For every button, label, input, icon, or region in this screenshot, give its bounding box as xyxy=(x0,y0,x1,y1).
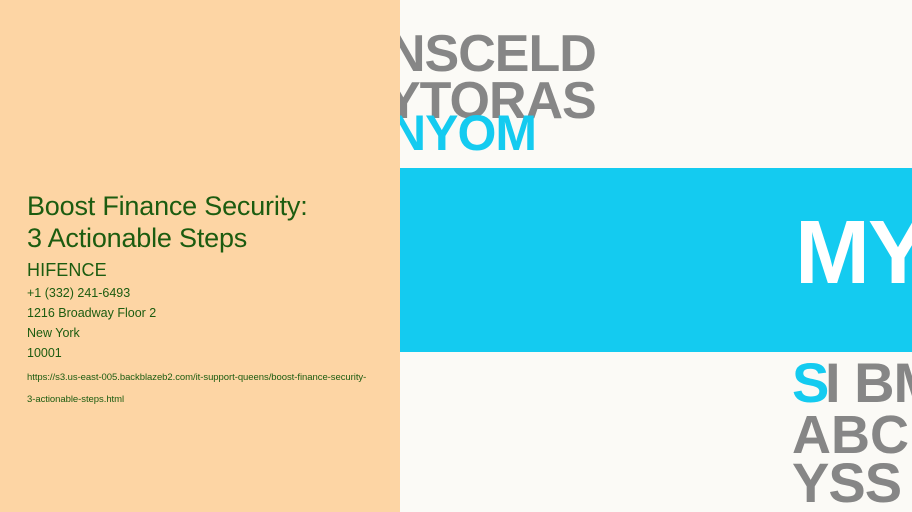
cloud-word-yss: YSS xyxy=(792,455,901,511)
info-panel-content: Boost Finance Security: 3 Actionable Ste… xyxy=(27,190,379,411)
article-url[interactable]: https://s3.us-east-005.backblazeb2.com/i… xyxy=(27,367,367,411)
phone-number[interactable]: +1 (332) 241-6493 xyxy=(27,283,379,303)
address-street: 1216 Broadway Floor 2 xyxy=(27,303,379,323)
cloud-word-mys-ntceit: MY'S NTCEIT xyxy=(795,208,912,298)
address-zip: 10001 xyxy=(27,343,379,363)
word-cloud-image: NSCELD YTORAS NYOM OFORD COTENTCA AS MY'… xyxy=(400,0,912,512)
cloud-word-ibmi: I BMI xyxy=(825,355,912,411)
page-root: Boost Finance Security: 3 Actionable Ste… xyxy=(0,0,912,512)
address-city: New York xyxy=(27,323,379,343)
brand-name: HIFENCE xyxy=(27,259,379,282)
cloud-word-s: S xyxy=(792,355,828,411)
cloud-word-nyom: NYOM xyxy=(400,108,536,158)
info-panel: Boost Finance Security: 3 Actionable Ste… xyxy=(0,0,400,512)
page-title: Boost Finance Security: 3 Actionable Ste… xyxy=(27,190,379,254)
